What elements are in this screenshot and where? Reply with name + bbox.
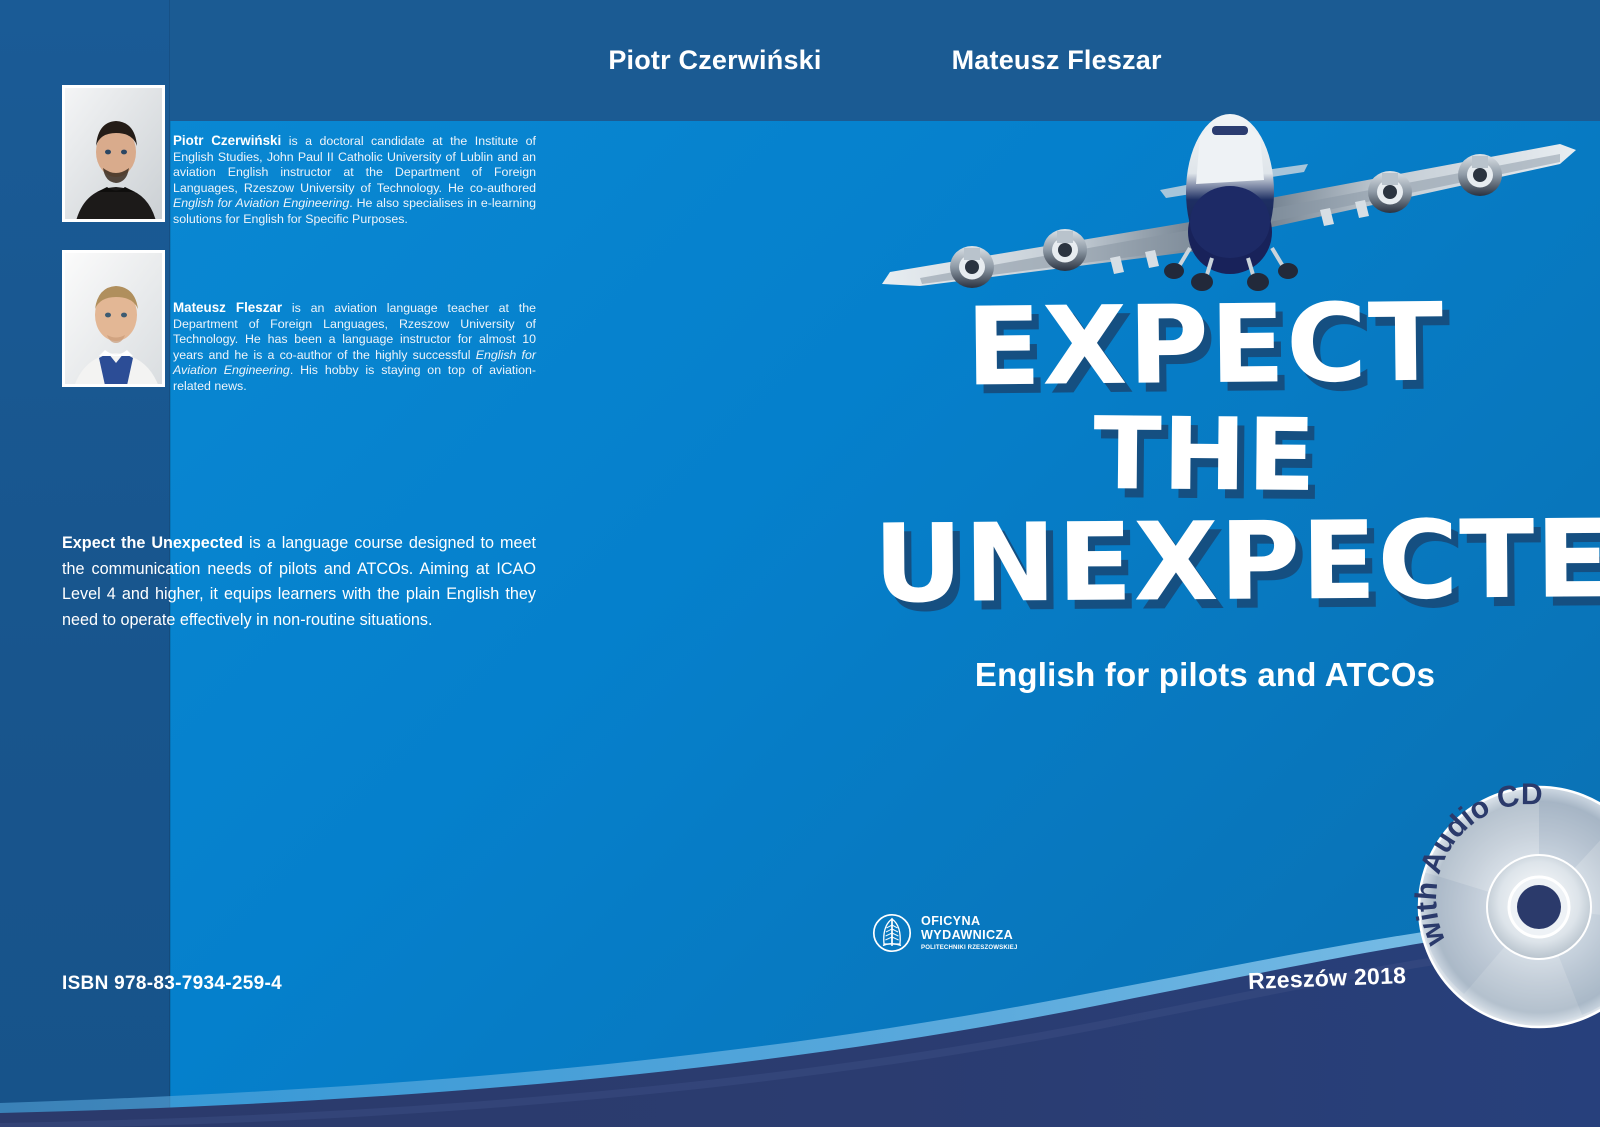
book-blurb: Expect the Unexpected is a language cour… (62, 531, 536, 633)
blurb-title: Expect the Unexpected (62, 534, 243, 552)
title-line-2: THE (880, 407, 1531, 505)
book-title: EXPECT THE UNEXPECTED (880, 296, 1530, 613)
publisher-mark-icon (872, 913, 912, 953)
book-cover: Piotr Czerwiński Mateusz Fleszar (0, 0, 1600, 1127)
bio-name-1: Piotr Czerwiński (173, 133, 281, 148)
publisher-name: OFICYNA WYDAWNICZA POLITECHNIKI RZESZOWS… (921, 914, 1018, 952)
bio-italic-1: English for Aviation Engineering (173, 196, 349, 210)
publisher-logo: OFICYNA WYDAWNICZA POLITECHNIKI RZESZOWS… (872, 913, 1018, 953)
title-line-1: EXPECT (873, 293, 1537, 399)
author-photo-mateusz-fleszar (62, 250, 165, 387)
title-line-3: UNEXPECTED (873, 511, 1537, 615)
isbn: ISBN 978-83-7934-259-4 (62, 973, 282, 995)
bio-mateusz-fleszar: Mateusz Fleszar is an aviation language … (173, 300, 536, 395)
publisher-line-2: WYDAWNICZA (921, 928, 1018, 942)
airplane-photo (860, 72, 1600, 292)
publisher-line-1: OFICYNA (921, 914, 1018, 928)
book-subtitle: English for pilots and ATCOs (880, 656, 1530, 694)
author-photo-piotr-czerwinski (62, 85, 165, 222)
audio-cd-badge: with Audio CD (1414, 782, 1600, 1032)
bottom-wave-graphic (0, 917, 1600, 1127)
bio-piotr-czerwinski: Piotr Czerwiński is a doctoral candidate… (173, 133, 536, 228)
publisher-line-3: POLITECHNIKI RZESZOWSKIEJ (921, 943, 1018, 952)
bio-name-2: Mateusz Fleszar (173, 300, 282, 315)
